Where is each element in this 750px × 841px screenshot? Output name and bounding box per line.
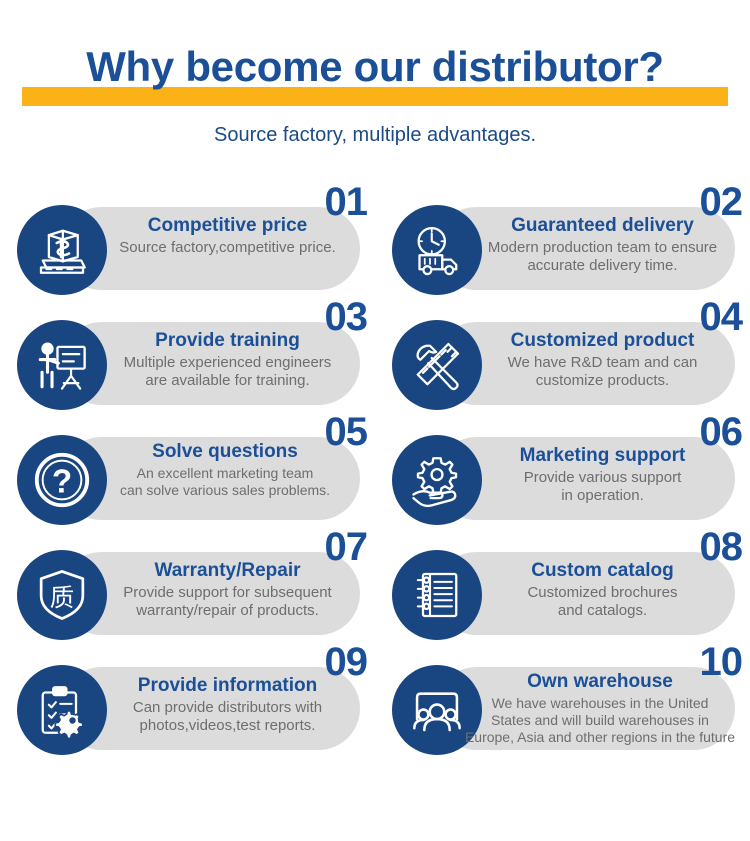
card-description: An excellent marketing team can solve va… (80, 465, 370, 499)
advantage-card-06[interactable]: 06 Marketing support Provide various sup… (375, 420, 750, 535)
card-title: Warranty/Repair (90, 559, 365, 583)
card-text: Warranty/Repair Provide support for subs… (90, 559, 365, 620)
card-title: Provide information (90, 674, 365, 698)
spiral-notebook-catalog-icon (392, 550, 482, 640)
card-description: We have warehouses in the United States … (455, 695, 745, 746)
advantage-card-09[interactable]: 09 Provide information Can provide distr… (0, 650, 375, 765)
advantage-card-10[interactable]: 10 Own warehouse We have warehouses in t… (375, 650, 750, 765)
card-text: Customized product We have R&D team and … (465, 329, 740, 390)
header: Why become our distributor? Source facto… (0, 0, 750, 180)
card-title: Marketing support (475, 444, 730, 468)
card-title: Competitive price (100, 214, 355, 238)
card-text: Provide information Can provide distribu… (90, 674, 365, 735)
card-text: Marketing support Provide various suppor… (475, 444, 730, 505)
card-description: Modern production team to ensure accurat… (465, 239, 740, 275)
card-description: Customized brochures and catalogs. (475, 584, 730, 620)
card-text: Solve questions An excellent marketing t… (80, 440, 370, 499)
page-title: Why become our distributor? (0, 42, 750, 92)
page-subtitle: Source factory, multiple advantages. (0, 122, 750, 148)
card-text: Guaranteed delivery Modern production te… (465, 214, 740, 275)
card-description: Can provide distributors with photos,vid… (90, 699, 365, 735)
advantage-card-01[interactable]: 01 Competitive price Source factory,comp… (0, 190, 375, 305)
advantage-card-08[interactable]: 08 Custom catalog Customized brochures a… (375, 535, 750, 650)
card-text: Competitive price Source factory,competi… (100, 214, 355, 257)
card-title: Own warehouse (455, 670, 745, 694)
svg-text:质: 质 (50, 583, 74, 612)
advantage-card-02[interactable]: 02 Guaranteed delivery Modern production… (375, 190, 750, 305)
card-text: Custom catalog Customized brochures and … (475, 559, 730, 620)
card-title: Custom catalog (475, 559, 730, 583)
card-description: Source factory,competitive price. (100, 239, 355, 257)
card-title: Guaranteed delivery (465, 214, 740, 238)
card-text: Provide training Multiple experienced en… (90, 329, 365, 390)
card-description: Provide support for subsequent warranty/… (90, 584, 365, 620)
advantage-card-03[interactable]: 03 Provide training Multiple experienced… (0, 305, 375, 420)
card-description: We have R&D team and can customize produ… (465, 354, 740, 390)
card-text: Own warehouse We have warehouses in the … (455, 670, 745, 746)
advantage-card-05[interactable]: 05 ? Solve questions An excellent market… (0, 420, 375, 535)
gear-in-hand-icon (392, 435, 482, 525)
card-title: Customized product (465, 329, 740, 353)
advantage-card-07[interactable]: 07 质 Warranty/Repair Provide support for… (0, 535, 375, 650)
svg-text:?: ? (52, 463, 72, 500)
card-description: Multiple experienced engineers are avail… (90, 354, 365, 390)
card-title: Solve questions (80, 440, 370, 464)
card-title: Provide training (90, 329, 365, 353)
advantage-card-04[interactable]: 04 Customized product We have R&D team a… (375, 305, 750, 420)
card-description: Provide various support in operation. (475, 469, 730, 505)
package-on-pallet-dollar-icon (17, 205, 107, 295)
